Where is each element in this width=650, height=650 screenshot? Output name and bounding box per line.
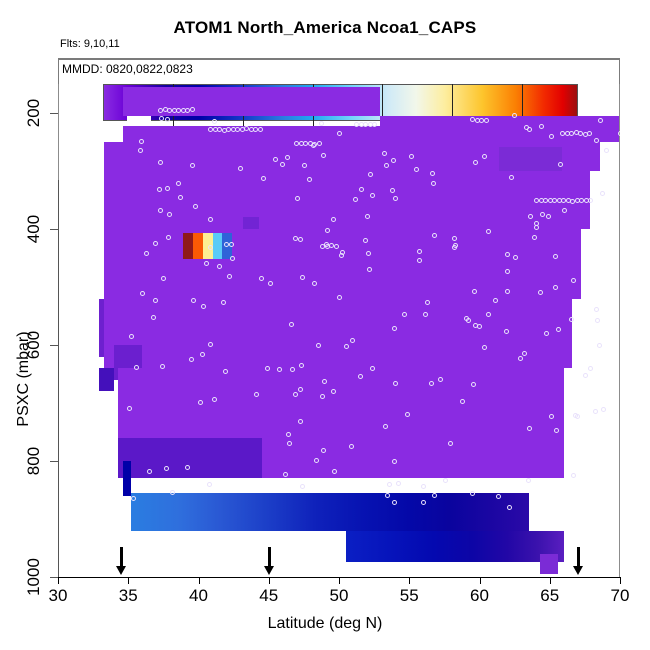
heatmap-cell [104,229,580,299]
sample-point [159,116,164,121]
sample-point [452,236,457,241]
x-axis-tick [339,577,340,584]
sample-point [204,261,209,266]
sample-point [583,373,588,378]
sample-point [524,125,529,130]
y-axis-tick [50,113,58,114]
sample-point [393,196,398,201]
sample-point [546,214,551,219]
sample-point [127,406,132,411]
sample-point [289,322,294,327]
sample-point [507,505,512,510]
sample-point [587,131,592,136]
sample-point [604,148,609,153]
sample-point [423,312,428,317]
sample-point [287,441,292,446]
x-axis-tick-label: 45 [259,586,278,606]
x-axis-tick-label: 40 [189,586,208,606]
heatmap-cell [380,116,619,126]
sample-point [575,414,580,419]
sample-point [325,228,330,233]
sample-point [532,235,537,240]
y-axis-tick-label: 400 [24,215,44,243]
sample-point [193,204,198,209]
heatmap-cell [118,368,563,438]
sample-point [217,264,222,269]
sample-point [571,473,576,478]
sample-point [191,298,196,303]
sample-point [496,494,501,499]
x-axis-tick [409,577,410,584]
sample-point [600,191,605,196]
sample-point [277,367,282,372]
y-axis-tick [50,229,58,230]
sample-point [349,444,354,449]
sample-point [484,118,489,123]
sample-point [363,238,368,243]
page-title: ATOM1 North_America Ncoa1_CAPS [0,18,650,38]
x-axis-tick [199,577,200,584]
sample-point [473,160,478,165]
heatmap-cell [346,531,564,563]
sample-point [358,374,363,379]
sample-point [153,241,158,246]
mmdd-annotation: MMDD: 0820,0822,0823 [62,62,193,76]
sample-point [409,154,414,159]
x-axis-tick-label: 55 [400,586,419,606]
y-axis-title: PSXC (mbar) [15,279,33,479]
x-axis-tick-label: 60 [470,586,489,606]
sample-point [178,195,183,200]
sample-point [539,124,544,129]
sample-point [331,389,336,394]
latitude-arrow-shaft [120,547,123,567]
sample-point [504,329,509,334]
x-axis-tick [620,577,621,584]
sample-point [594,138,599,143]
sample-point [595,318,600,323]
sample-point [562,208,567,213]
sample-point [443,478,448,483]
sample-point [509,175,514,180]
sample-point [593,409,598,414]
heatmap-cell [123,126,619,142]
sample-point [396,481,401,486]
x-axis-tick-label: 30 [49,586,68,606]
heatmap-cell [104,299,572,369]
sample-point [176,181,181,186]
sample-point [207,482,212,487]
sample-point [518,356,523,361]
y-axis-tick [50,461,58,462]
sample-point [554,428,559,433]
sample-point [153,298,158,303]
sample-point [385,493,390,498]
sample-point [340,250,345,255]
x-axis-tick [269,577,270,584]
sample-point [421,484,426,489]
sample-point [392,459,397,464]
sample-point [129,334,134,339]
sample-point [320,394,325,399]
sample-point [472,289,477,294]
overlay-strip-cell [183,233,193,259]
latitude-arrow-head [116,566,126,575]
sample-point [432,493,437,498]
heatmap-cell [127,116,151,126]
latitude-arrow-shaft [268,547,271,567]
overlay-strip-cell [213,233,223,259]
sample-point [425,300,430,305]
heatmap-cell [123,461,131,496]
overlay-strip-cell [193,233,203,259]
sample-point [527,426,532,431]
sample-point [307,177,312,182]
heatmap-cell [131,493,529,531]
chart-root: ATOM1 North_America Ncoa1_CAPS Flts: 9,1… [0,0,650,650]
sample-point [134,365,139,370]
sample-point [316,343,321,348]
sample-point [230,256,235,261]
sample-point [367,267,372,272]
sample-point [618,131,620,136]
sample-point [350,338,355,343]
sample-point [293,236,298,241]
sample-point [353,197,358,202]
x-axis-title: Latitude (deg N) [0,615,650,633]
sample-point [553,254,558,259]
sample-point [513,255,518,260]
sample-point [594,307,599,312]
y-axis-tick-label: 200 [24,99,44,127]
sample-point [598,118,603,123]
heatmap-cell [540,554,558,574]
sample-point [393,381,398,386]
sample-point [158,208,163,213]
sample-point [190,163,195,168]
x-axis-tick-label: 35 [119,586,138,606]
x-axis-tick [480,577,481,584]
sample-point [212,119,217,124]
y-axis-tick-label: 1000 [24,558,44,596]
x-axis-tick-label: 70 [611,586,630,606]
sample-point [157,187,162,192]
y-axis-tick [50,577,58,578]
sample-point [522,351,527,356]
sample-point [482,345,487,350]
sample-point [473,323,478,328]
sample-point [139,139,144,144]
sample-point [387,482,392,487]
sample-point [601,407,606,412]
sample-point [432,233,437,238]
latitude-arrow-shaft [577,547,580,567]
sample-point [258,127,263,132]
heatmap-cell [118,438,261,479]
sample-point [321,448,326,453]
sample-point [597,343,602,348]
sample-point [165,186,170,191]
sample-point [421,500,426,505]
y-axis-tick [50,345,58,346]
data-field [58,84,620,577]
sample-point [295,196,300,201]
sample-point [317,141,322,146]
sample-point [165,117,170,122]
sample-point [208,217,213,222]
sample-point [332,469,337,474]
sample-point [405,412,410,417]
heatmap-cell [104,171,590,229]
y-axis-line [58,180,59,578]
sample-point [359,187,364,192]
sample-point [300,484,305,489]
sample-point [286,432,291,437]
sample-point [486,229,491,234]
x-axis-tick [550,577,551,584]
sample-point [556,327,561,332]
heatmap-cell [262,438,564,479]
sample-point [224,242,229,247]
latitude-arrow-head [264,566,274,575]
x-axis-tick [128,577,129,584]
x-axis-tick-label: 65 [540,586,559,606]
sample-point [526,478,531,483]
x-axis-tick [58,577,59,584]
x-axis-tick-label: 50 [330,586,349,606]
sample-point [588,198,593,203]
sample-point [138,148,143,153]
sample-point [505,289,510,294]
sample-point [569,317,574,322]
sample-point [298,419,303,424]
sample-point [131,496,136,501]
sample-point [417,249,422,254]
latitude-arrow-head [573,566,583,575]
sample-point [538,290,543,295]
sample-point [166,235,171,240]
heatmap-cell [99,368,114,391]
flights-annotation: Flts: 9,10,11 [60,38,120,50]
sample-point [200,352,205,357]
sample-point [588,366,593,371]
sample-point [549,414,554,419]
